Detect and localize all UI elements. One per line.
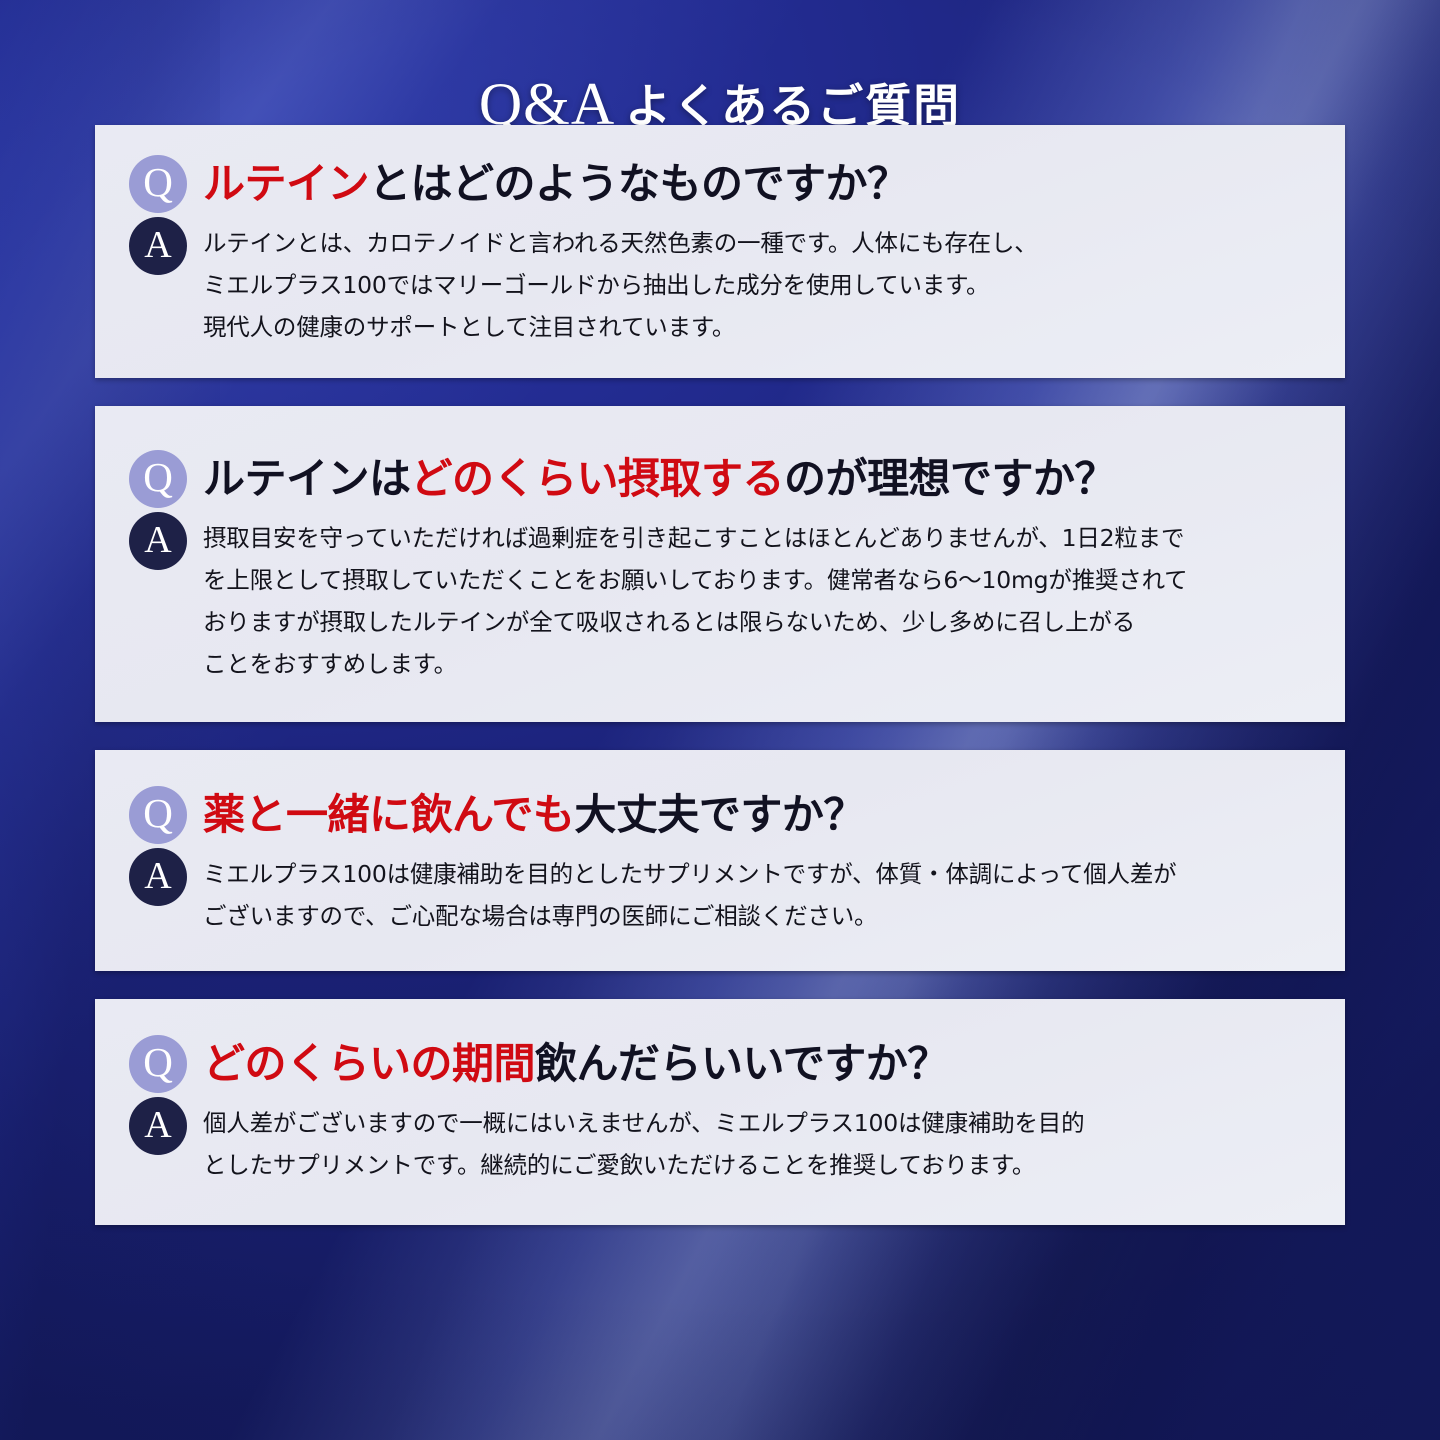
answer-badge-icon: A [129, 1097, 187, 1155]
faq-question-row: Q薬と一緒に飲んでも大丈夫ですか？ [129, 786, 1311, 844]
answer-line: 摂取目安を守っていただければ過剰症を引き起こすことはほとんどありませんが、1日2… [203, 518, 1188, 560]
question-badge-icon: Q [129, 155, 187, 213]
answer-line: おりますが摂取したルテインが全て吸収されるとは限らないため、少し多めに召し上がる [203, 602, 1188, 644]
faq-answer-row: Aミエルプラス100は健康補助を目的としたサプリメントですが、体質・体調によって… [129, 848, 1311, 938]
question-highlight-segment: ルテイン [203, 159, 369, 208]
answer-badge-icon: A [129, 217, 187, 275]
answer-badge-icon: A [129, 512, 187, 570]
answer-line: を上限として摂取していただくことをお願いしております。健常者なら6〜10mgが推… [203, 560, 1188, 602]
faq-answer-row: A個人差がございますので一概にはいえませんが、ミエルプラス100は健康補助を目的… [129, 1097, 1311, 1187]
answer-line: 現代人の健康のサポートとして注目されています。 [203, 307, 1038, 349]
answer-badge-icon: A [129, 848, 187, 906]
question-highlight-segment: どのくらいの期間 [203, 1039, 535, 1088]
faq-answer-text: ミエルプラス100は健康補助を目的としたサプリメントですが、体質・体調によって個… [203, 848, 1176, 938]
question-plain-segment: 飲んだらいいですか？ [535, 1039, 949, 1088]
question-badge-icon: Q [129, 786, 187, 844]
answer-line: ことをおすすめします。 [203, 644, 1188, 686]
page-title: Q&Aよくあるご質問 [0, 0, 1440, 96]
faq-question-row: Qどのくらいの期間飲んだらいいですか？ [129, 1035, 1311, 1093]
question-badge-icon: Q [129, 450, 187, 508]
answer-line: ございますので、ご心配な場合は専門の医師にご相談ください。 [203, 896, 1176, 938]
answer-line: 個人差がございますので一概にはいえませんが、ミエルプラス100は健康補助を目的 [203, 1103, 1084, 1145]
answer-line: ルテインとは、カロテノイドと言われる天然色素の一種です。人体にも存在し、 [203, 223, 1038, 265]
question-plain-segment: ルテインは [203, 454, 411, 503]
answer-line: ミエルプラス100は健康補助を目的としたサプリメントですが、体質・体調によって個… [203, 854, 1176, 896]
faq-answer-row: A摂取目安を守っていただければ過剰症を引き起こすことはほとんどありませんが、1日… [129, 512, 1311, 685]
faq-answer-text: ルテインとは、カロテノイドと言われる天然色素の一種です。人体にも存在し、ミエルプ… [203, 217, 1038, 348]
faq-question-row: Qルテインはどのくらい摂取するのが理想ですか？ [129, 450, 1311, 508]
faq-answer-text: 個人差がございますので一概にはいえませんが、ミエルプラス100は健康補助を目的と… [203, 1097, 1084, 1187]
question-highlight-segment: 薬と一緒に飲んでも [203, 790, 574, 839]
faq-card[interactable]: Qルテインとはどのようなものですか？Aルテインとは、カロテノイドと言われる天然色… [95, 125, 1345, 378]
question-highlight-segment: どのくらい摂取する [411, 454, 785, 503]
faq-answer-row: Aルテインとは、カロテノイドと言われる天然色素の一種です。人体にも存在し、ミエル… [129, 217, 1311, 348]
answer-line: ミエルプラス100ではマリーゴールドから抽出した成分を使用しています。 [203, 265, 1038, 307]
qa-page: Q&Aよくあるご質問 Qルテインとはどのようなものですか？Aルテインとは、カロテ… [0, 0, 1440, 1440]
faq-question-text: 薬と一緒に飲んでも大丈夫ですか？ [203, 786, 865, 840]
faq-card[interactable]: Q薬と一緒に飲んでも大丈夫ですか？Aミエルプラス100は健康補助を目的としたサプ… [95, 750, 1345, 972]
faq-question-row: Qルテインとはどのようなものですか？ [129, 155, 1311, 213]
question-plain-segment: 大丈夫ですか？ [574, 790, 865, 839]
answer-line: としたサプリメントです。継続的にご愛飲いただけることを推奨しております。 [203, 1145, 1084, 1187]
faq-question-text: ルテインはどのくらい摂取するのが理想ですか？ [203, 450, 1116, 504]
faq-card[interactable]: Qルテインはどのくらい摂取するのが理想ですか？A摂取目安を守っていただければ過剰… [95, 406, 1345, 721]
faq-card[interactable]: Qどのくらいの期間飲んだらいいですか？A個人差がございますので一概にはいえません… [95, 999, 1345, 1225]
faq-card-list: Qルテインとはどのようなものですか？Aルテインとは、カロテノイドと言われる天然色… [95, 96, 1345, 1225]
faq-question-text: ルテインとはどのようなものですか？ [203, 155, 909, 209]
question-plain-segment: のが理想ですか？ [784, 454, 1116, 503]
question-plain-segment: とはどのようなものですか？ [369, 159, 909, 208]
faq-question-text: どのくらいの期間飲んだらいいですか？ [203, 1035, 949, 1089]
question-badge-icon: Q [129, 1035, 187, 1093]
faq-answer-text: 摂取目安を守っていただければ過剰症を引き起こすことはほとんどありませんが、1日2… [203, 512, 1188, 685]
